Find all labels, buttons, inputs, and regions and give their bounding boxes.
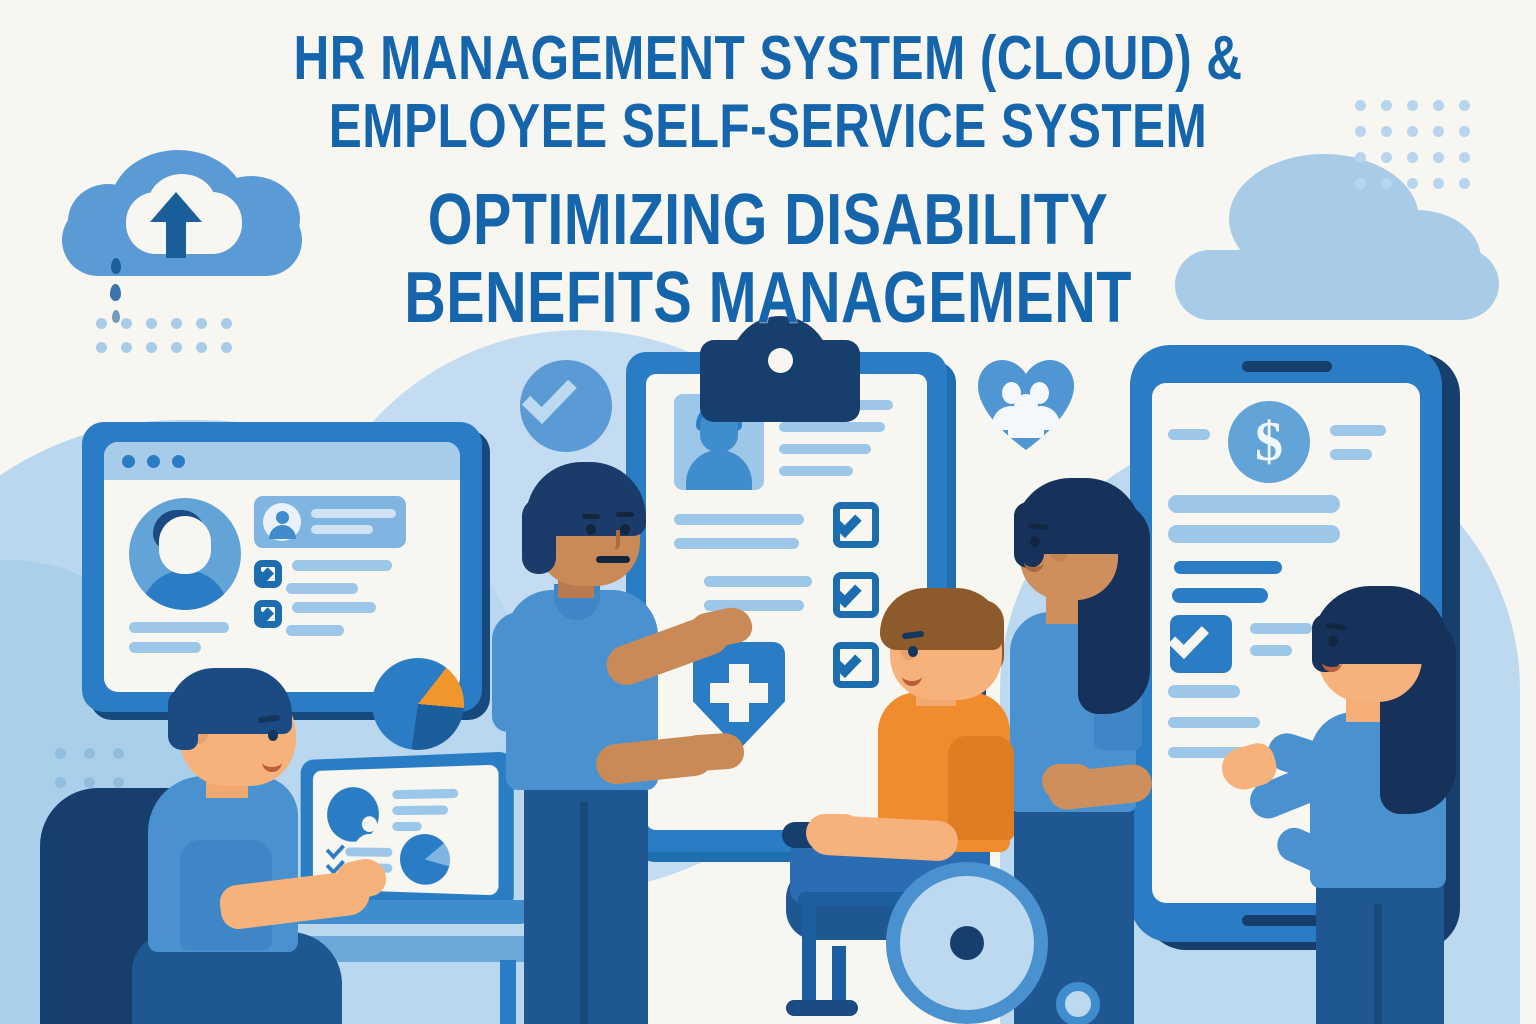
cloud-data-drops-icon: [104, 258, 128, 328]
dollar-symbol: $: [1228, 401, 1310, 483]
text-line: [292, 602, 376, 613]
text-line: [392, 822, 421, 831]
employee-at-self-service-phone: [1282, 586, 1492, 1024]
dot-grid-top-right: [1355, 100, 1485, 204]
monitor-screen: [104, 442, 460, 692]
text-line: [1168, 685, 1240, 698]
text-line: [1172, 588, 1268, 603]
text-line: [392, 805, 448, 815]
background-cloud: [1175, 190, 1495, 320]
cloud-upload-icon: [62, 150, 302, 290]
wheelchair-caster-wheel: [1056, 982, 1100, 1024]
window-dot-icon[interactable]: [147, 455, 160, 468]
window-dot-icon[interactable]: [122, 455, 135, 468]
checklist-checkbox[interactable]: [254, 560, 282, 588]
hr-presenter: [492, 462, 742, 1024]
benefit-approved-checkbox[interactable]: [1170, 615, 1232, 673]
employee-in-wheelchair: [780, 586, 1120, 1024]
text-line: [1330, 425, 1386, 436]
text-line: [779, 444, 871, 454]
browser-chrome: [104, 442, 460, 480]
pie-chart-icon: [372, 658, 464, 750]
text-line: [1168, 717, 1260, 728]
benefits-pie-chart: [400, 834, 450, 885]
text-line: [1168, 525, 1340, 543]
text-line: [286, 583, 358, 594]
text-line: [292, 560, 392, 571]
text-line: [1168, 495, 1340, 513]
text-line: [1174, 561, 1282, 574]
text-line: [1168, 429, 1210, 440]
employee-profile-card[interactable]: [254, 496, 406, 548]
checklist-checkbox[interactable]: [254, 600, 282, 628]
text-line: [286, 625, 344, 636]
text-line: [1330, 449, 1372, 460]
phone-speaker: [1242, 361, 1332, 372]
check-circle-icon: [520, 360, 612, 452]
page-title-line-2: EMPLOYEE SELF-SERVICE SYSTEM: [154, 96, 1383, 158]
text-line: [392, 789, 458, 799]
text-line: [129, 642, 201, 653]
page-title-line-1: HR MANAGEMENT SYSTEM (CLOUD) &: [154, 28, 1383, 90]
claim-checkbox[interactable]: [833, 502, 879, 548]
employee-avatar: [129, 498, 241, 610]
heart-people-icon: [978, 360, 1074, 452]
hr-officer-at-laptop: [40, 660, 370, 1024]
text-line: [779, 422, 885, 432]
text-line: [779, 466, 853, 476]
window-dot-icon[interactable]: [172, 455, 185, 468]
illustration-canvas: HR MANAGEMENT SYSTEM (CLOUD) & EMPLOYEE …: [0, 0, 1536, 1024]
text-line: [129, 622, 229, 633]
